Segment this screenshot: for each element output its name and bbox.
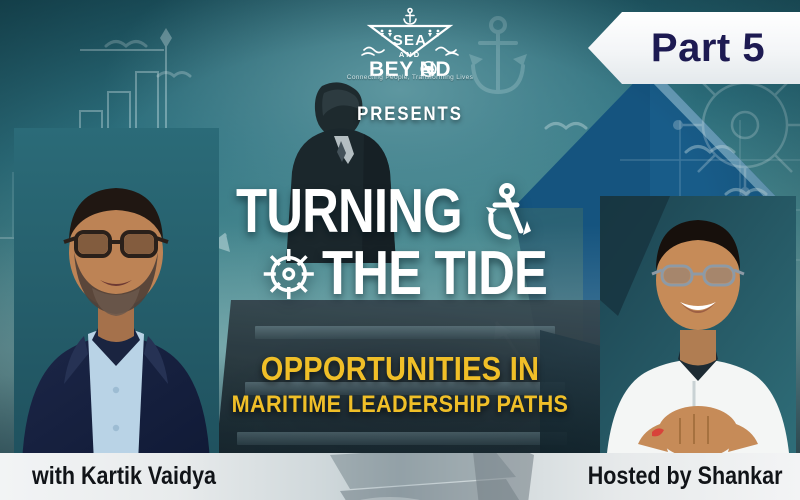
title-line-1-row: TURNING	[236, 183, 596, 241]
brand-tagline: Connecting People, Transforming Lives	[340, 74, 480, 81]
part-badge[interactable]: Part 5	[588, 12, 800, 84]
title-line-2-row: THE TIDE	[236, 243, 596, 305]
ship-wheel-icon	[262, 243, 316, 305]
subtitle-line-1: OPPORTUNITIES IN	[48, 350, 752, 388]
host-portrait	[600, 196, 796, 463]
svg-text:SEA: SEA	[393, 32, 427, 49]
part-badge-label: Part 5	[625, 26, 765, 71]
title-line-1: TURNING	[236, 183, 462, 240]
title-block: TURNING THE TI	[236, 183, 596, 305]
title-line-2: THE TIDE	[322, 245, 547, 302]
sea-and-beyond-logo-icon: SEA AND BEY ND	[340, 6, 480, 80]
host-credit: Hosted by Shankar	[587, 462, 782, 491]
guest-credit: with Kartik Vaidya	[32, 462, 216, 491]
presents-label: PRESENTS	[348, 104, 471, 126]
footer-bar: with Kartik Vaidya Hosted by Shankar	[0, 453, 800, 500]
ship-bow-art	[320, 453, 550, 500]
anchor-icon	[485, 183, 539, 241]
subtitle-line-2: MARITIME LEADERSHIP PATHS	[40, 391, 760, 419]
poster-canvas: Part 5 SEA	[0, 0, 800, 500]
brand-logo[interactable]: SEA AND BEY ND Connecting People, Transf…	[340, 6, 480, 98]
